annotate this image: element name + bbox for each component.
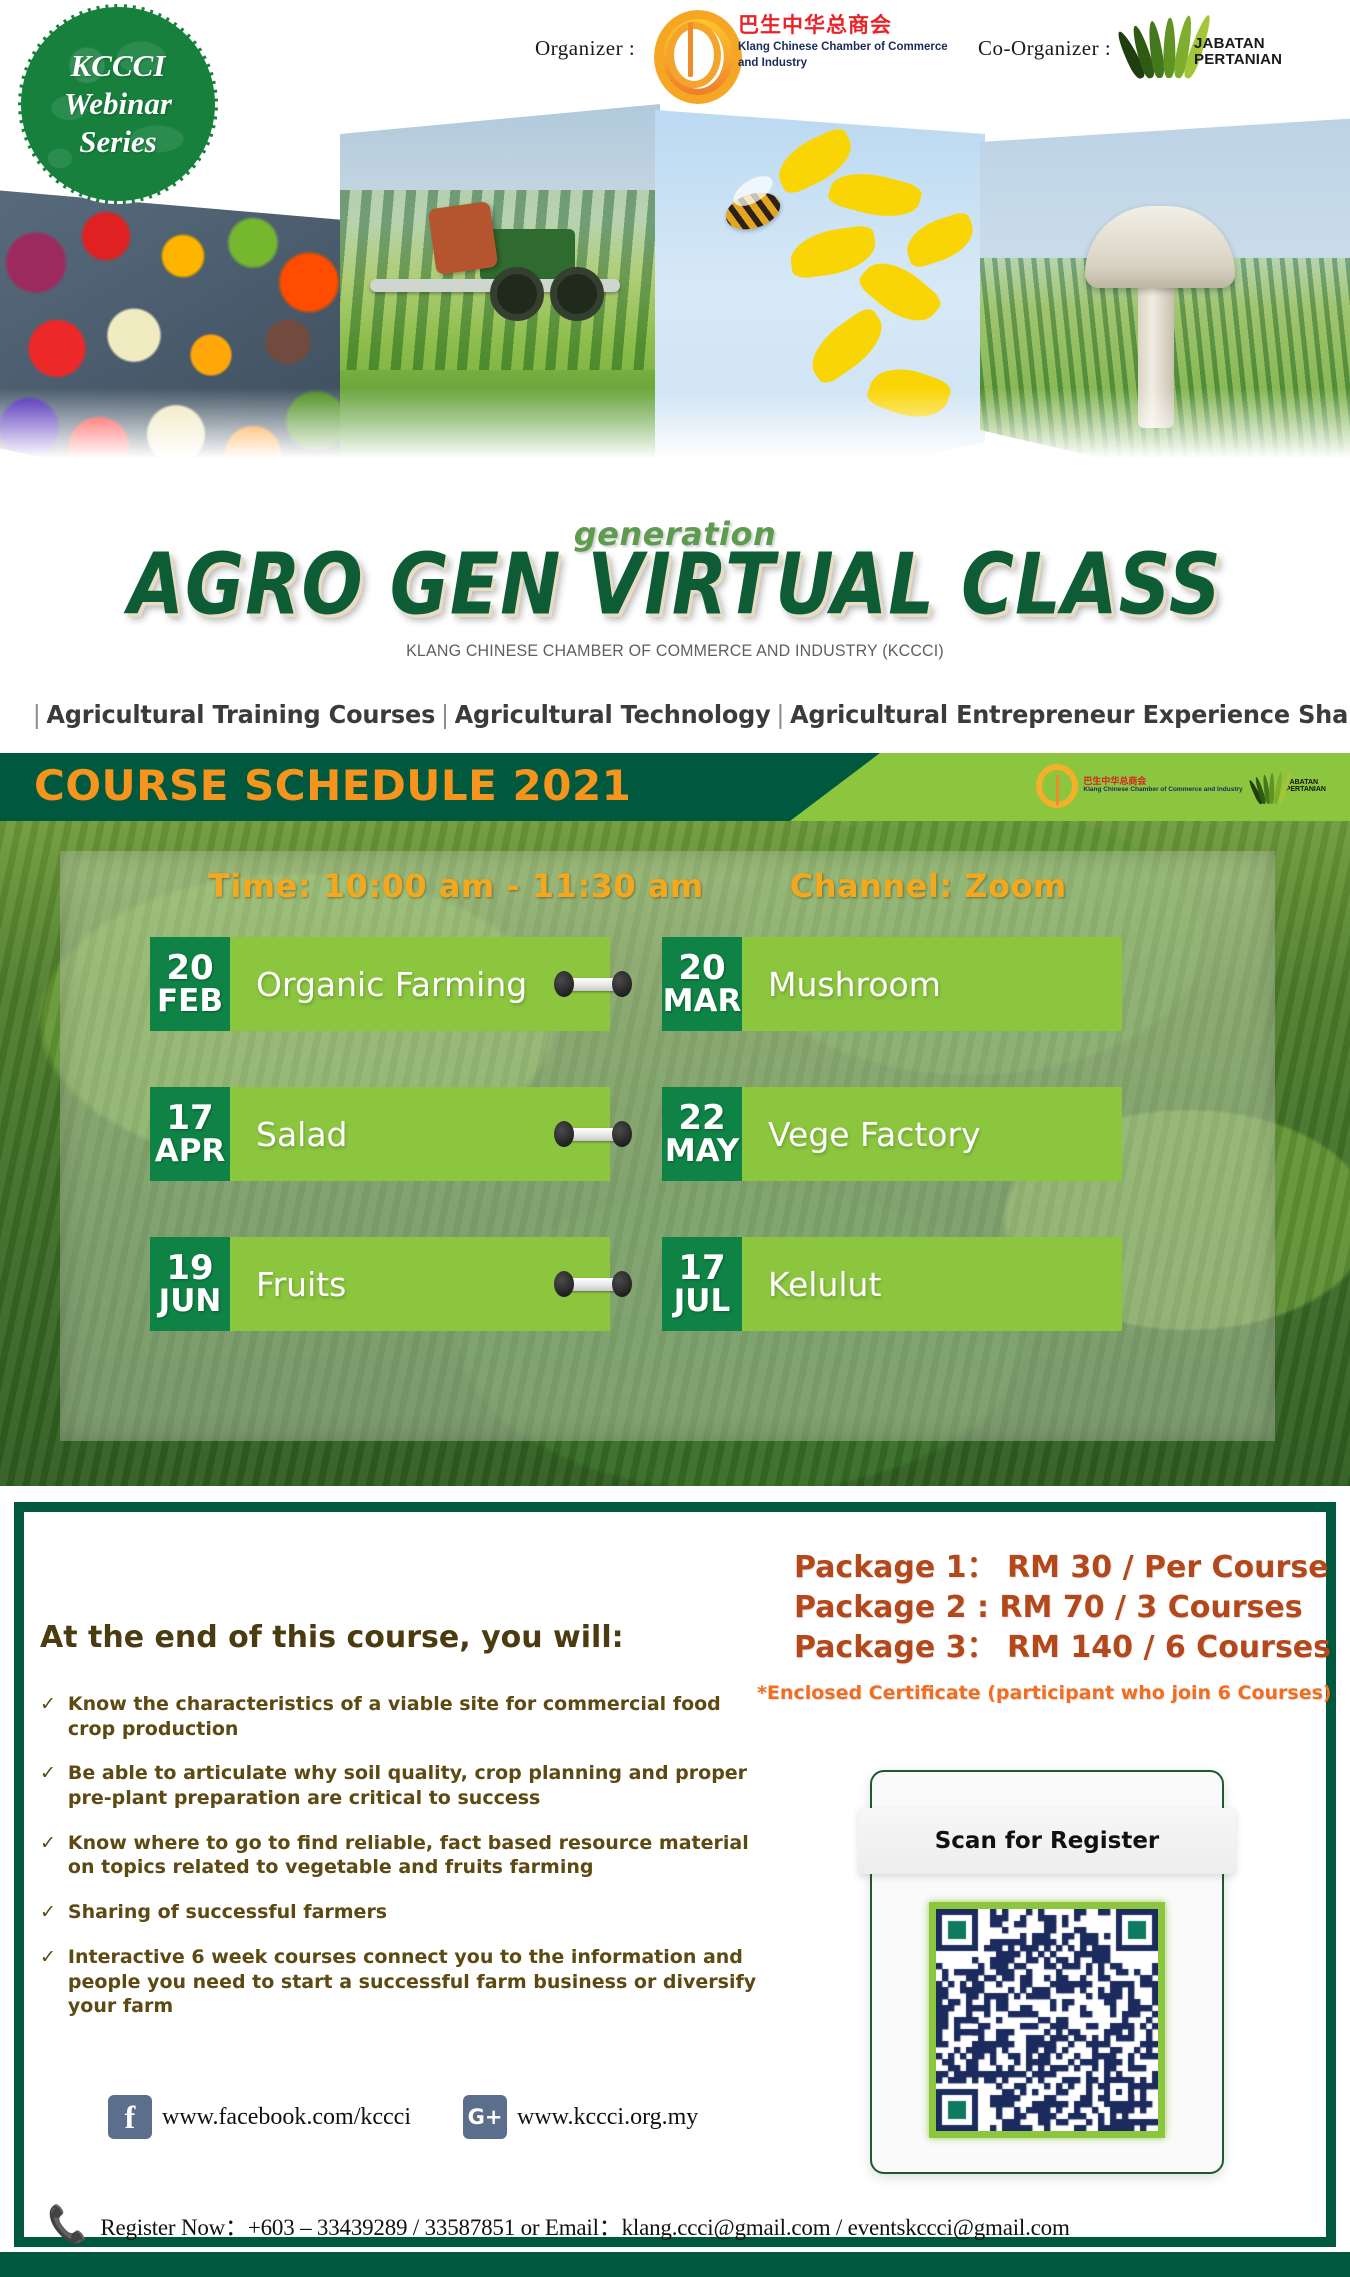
schedule-day: 19 [166,1251,213,1286]
poster-root: Organizer : 巴生中华总商会 Klang Chinese Chambe… [0,0,1350,2277]
schedule-course-name: Organic Farming [230,937,610,1031]
row-connector-icon [554,971,632,997]
schedule-date-badge: 22 MAY [662,1087,742,1181]
schedule-course-name: Mushroom [742,937,1122,1031]
schedule-day: 22 [678,1101,725,1136]
schedule-course-name: Kelulut [742,1237,1122,1331]
tagline-item-0: Agricultural Training Courses [46,700,435,729]
photo-tractor-spraying [340,104,660,520]
list-item: ✓ Interactive 6 week courses connect you… [40,1945,760,2019]
tagline-item-1: Agricultural Technology [455,700,771,729]
schedule-date-badge: 17 APR [150,1087,230,1181]
check-icon: ✓ [40,1692,56,1741]
schedule-date-badge: 17 JUL [662,1237,742,1331]
list-item: ✓ Sharing of successful farmers [40,1900,760,1925]
check-icon: ✓ [40,1900,56,1925]
page-title: AGRO GEN VIRTUAL CLASS [0,540,1350,629]
check-icon: ✓ [40,1761,56,1810]
tagline-bar: |Agricultural Training Courses|Agricultu… [27,700,1323,729]
schedule-channel: Channel: Zoom [790,867,1067,915]
kccci-webinar-series-badge: KCCCI Webinar Series [18,4,218,204]
banner-org-en: Klang Chinese Chamber of Commerce and In… [1083,787,1242,794]
package-item: Package 1： RM 30 / Per Course [794,1548,1314,1588]
course-schedule-banner: COURSE SCHEDULE 2021 巴生中华总商会 Klang Chine… [0,753,1350,821]
schedule-entry[interactable]: 20 MAR Mushroom [662,937,1122,1031]
schedule-month: JUL [674,1286,730,1318]
schedule-entry[interactable]: 17 APR Salad [150,1087,610,1181]
jabatan-pertanian-logo-icon: JABATANPERTANIAN [1130,10,1310,82]
package-item: Package 2 : RM 70 / 3 Courses [794,1588,1314,1628]
list-item: ✓ Know the characteristics of a viable s… [40,1692,760,1741]
list-item-label: Interactive 6 week courses connect you t… [68,1945,760,2019]
schedule-section: Time: 10:00 am - 11:30 am Channel: Zoom … [0,821,1350,1486]
photo-vegetables [0,190,344,520]
schedule-row: 20 FEB Organic Farming 20 MAR Mushroom [60,937,1275,1031]
banner-kccci-logo-icon: 巴生中华总商会 Klang Chinese Chamber of Commerc… [1036,764,1242,808]
course-schedule-title: COURSE SCHEDULE 2021 [34,761,631,810]
tagline-divider: | [27,700,46,729]
schedule-entry[interactable]: 17 JUL Kelulut [662,1237,1122,1331]
badge-line-2: Webinar [64,85,172,123]
banner-jabatan-logo-icon: JABATANPERTANIAN [1257,768,1326,804]
package-item: Package 3： RM 140 / 6 Courses [794,1628,1314,1668]
row-connector-icon [554,1121,632,1147]
schedule-entry[interactable]: 22 MAY Vege Factory [662,1087,1122,1181]
tagline-divider: | [435,700,454,729]
list-item: ✓ Know where to go to find reliable, fac… [40,1831,760,1880]
facebook-link[interactable]: f www.facebook.com/kccci [108,2095,411,2139]
schedule-month: APR [155,1136,226,1168]
coorganizer-name: JABATANPERTANIAN [1194,36,1282,68]
social-links: f www.facebook.com/kccci G+ www.kccci.or… [108,2095,698,2139]
title-subtitle: KLANG CHINESE CHAMBER OF COMMERCE AND IN… [41,641,1310,661]
schedule-course-name: Vege Factory [742,1087,1122,1181]
schedule-day: 17 [678,1251,725,1286]
facebook-url[interactable]: www.facebook.com/kccci [162,2104,411,2131]
website-link[interactable]: G+ www.kccci.org.my [463,2095,698,2139]
schedule-course-name: Fruits [230,1237,610,1331]
website-url[interactable]: www.kccci.org.my [517,2104,698,2131]
schedule-row: 19 JUN Fruits 17 JUL Kelulut [60,1237,1275,1331]
organizer-name-cn: 巴生中华总商会 [738,14,948,37]
schedule-month: MAR [663,986,742,1018]
certificate-note: *Enclosed Certificate (participant who j… [757,1682,1350,1704]
schedule-entry[interactable]: 20 FEB Organic Farming [150,937,610,1031]
schedule-meta: Time: 10:00 am - 11:30 am Channel: Zoom [60,867,1275,915]
schedule-time: Time: 10:00 am - 11:30 am [208,867,704,915]
tagline-item-2: Agricultural Entrepreneur Experience Sha… [790,700,1350,729]
schedule-date-badge: 20 FEB [150,937,230,1031]
photo-mushroom [980,118,1350,518]
organizer-name-en: Klang Chinese Chamber of Commerce and In… [738,40,948,71]
row-connector-icon [554,1271,632,1297]
schedule-date-badge: 20 MAR [662,937,742,1031]
organizer-name-block: 巴生中华总商会 Klang Chinese Chamber of Commerc… [738,14,948,71]
facebook-icon[interactable]: f [108,2095,152,2139]
check-icon: ✓ [40,1945,56,2019]
register-text: Register Now：+603 – 33439289 / 33587851 … [100,2208,1069,2242]
organizer-label: Organizer : [535,36,635,61]
qr-label-strip: Scan for Register [858,1808,1236,1874]
photo-bee-on-flower [655,110,985,515]
schedule-row: 17 APR Salad 22 MAY Vege Factory [60,1087,1275,1181]
check-icon: ✓ [40,1831,56,1880]
list-item-label: Know the characteristics of a viable sit… [68,1692,760,1741]
schedule-day: 20 [678,951,725,986]
kccci-logo-icon [650,8,730,88]
banner-logos: 巴生中华总商会 Klang Chinese Chamber of Commerc… [1036,764,1326,808]
list-item: ✓ Be able to articulate why soil quality… [40,1761,760,1810]
phone-icon: 📞 [44,2206,90,2244]
schedule-month: JUN [159,1286,222,1318]
coorganizer-label: Co-Organizer : [978,36,1111,61]
schedule-month: FEB [157,986,223,1018]
register-line: 📞 Register Now：+603 – 33439289 / 3358785… [46,2208,1070,2242]
schedule-date-badge: 19 JUN [150,1237,230,1331]
google-plus-icon[interactable]: G+ [463,2095,507,2139]
qr-code-frame[interactable] [929,1902,1165,2138]
tagline-divider: | [771,700,790,729]
schedule-day: 17 [166,1101,213,1136]
outcomes-list: ✓ Know the characteristics of a viable s… [40,1692,760,2039]
schedule-entry[interactable]: 19 JUN Fruits [150,1237,610,1331]
outcomes-heading: At the end of this course, you will: [40,1620,624,1655]
schedule-rows: 20 FEB Organic Farming 20 MAR Mushroom [60,937,1275,1387]
schedule-card: Time: 10:00 am - 11:30 am Channel: Zoom … [60,851,1275,1441]
package-list: Package 1： RM 30 / Per Course Package 2 … [794,1548,1314,1669]
list-item-label: Know where to go to find reliable, fact … [68,1831,760,1880]
title-block: generation AGRO GEN VIRTUAL CLASS KLANG … [0,515,1350,661]
qr-register-card[interactable]: Scan for Register [870,1770,1224,2174]
list-item-label: Sharing of successful farmers [68,1900,387,1925]
schedule-month: MAY [665,1136,739,1168]
schedule-course-name: Salad [230,1087,610,1181]
footer-band [0,2252,1350,2277]
qr-code-image[interactable] [936,1909,1158,2131]
qr-label: Scan for Register [935,1828,1160,1854]
badge-line-1: KCCCI [71,47,166,85]
list-item-label: Be able to articulate why soil quality, … [68,1761,760,1810]
badge-line-3: Series [79,123,157,161]
schedule-day: 20 [166,951,213,986]
